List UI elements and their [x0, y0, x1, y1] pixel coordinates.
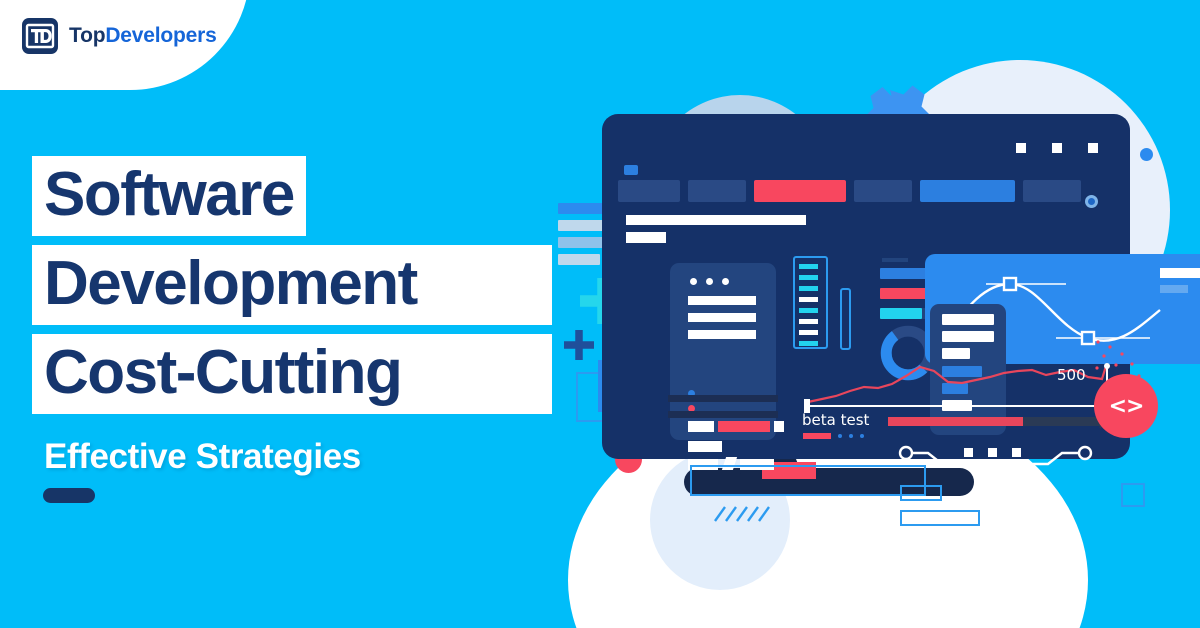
brand-name: TopDevelopers	[69, 24, 217, 48]
app-badge-icon	[624, 165, 638, 175]
plus-icon	[564, 330, 594, 360]
decor-dots	[882, 258, 908, 262]
nav-item[interactable]	[854, 180, 912, 202]
decor-outline-bar	[690, 465, 926, 496]
scroll-track[interactable]	[840, 288, 851, 350]
card-line	[688, 330, 756, 339]
brand-name-part2: Developers	[105, 24, 216, 47]
page-subtitle: Effective Strategies	[44, 437, 361, 477]
accent-rule	[43, 488, 95, 503]
nav-item[interactable]	[688, 180, 746, 202]
chart-value-label: 500	[1057, 366, 1086, 384]
progress-fill	[888, 417, 1023, 426]
list-item[interactable]	[799, 297, 818, 302]
card-dot	[722, 278, 729, 285]
panel-label	[1160, 268, 1200, 278]
nav-item[interactable]	[1023, 180, 1081, 202]
window-dot[interactable]	[1016, 143, 1026, 153]
decor-square-outline	[1121, 483, 1145, 507]
card-progress	[718, 421, 770, 432]
window-dot[interactable]	[1052, 143, 1062, 153]
illustration: 500 beta test	[540, 0, 1200, 628]
card-dot	[706, 278, 713, 285]
nav-item[interactable]	[618, 180, 680, 202]
panel-sublabel	[1160, 285, 1188, 293]
page-title: Software Development Cost-Cutting	[32, 156, 552, 414]
status-indicator	[1085, 195, 1098, 208]
beta-underline	[803, 433, 831, 439]
card-line	[774, 421, 784, 432]
list-item[interactable]	[799, 308, 818, 313]
topdevelopers-monogram-icon	[22, 18, 58, 54]
brand-logo[interactable]: TopDevelopers	[22, 18, 217, 54]
list-item[interactable]	[799, 264, 818, 269]
card-divider	[668, 411, 778, 418]
list-item[interactable]	[799, 286, 818, 291]
card-dot	[690, 278, 697, 285]
headline-line-1: Software	[32, 156, 306, 236]
decor-outline-bar	[900, 485, 942, 501]
list-item[interactable]	[799, 330, 818, 335]
card-line	[688, 441, 722, 452]
card-divider	[668, 395, 778, 402]
circuit-path-icon	[898, 440, 1093, 466]
content-line	[626, 232, 666, 243]
list-panel	[793, 256, 828, 349]
card-line	[688, 313, 756, 322]
chart-axis	[806, 405, 1112, 407]
nav-item[interactable]	[920, 180, 1015, 202]
card-line	[688, 421, 714, 432]
progress-fill	[880, 308, 922, 319]
nav-item-active[interactable]	[754, 180, 846, 202]
content-line	[626, 215, 806, 225]
decor-bar	[1068, 238, 1110, 244]
decor-dot	[1140, 148, 1153, 161]
card-line	[688, 296, 756, 305]
list-item[interactable]	[799, 319, 818, 324]
headline-line-2: Development	[32, 245, 552, 325]
brand-name-part1: Top	[69, 24, 105, 47]
decor-dots	[838, 434, 864, 438]
beta-test-label: beta test	[802, 411, 869, 429]
card-line	[942, 314, 994, 325]
list-item[interactable]	[799, 341, 818, 346]
window-dot[interactable]	[1088, 143, 1098, 153]
list-item[interactable]	[799, 275, 818, 280]
decor-outline-bar	[900, 510, 980, 526]
code-brackets-icon[interactable]: <>	[1094, 374, 1158, 438]
headline-line-3: Cost-Cutting	[32, 334, 552, 414]
hatch-icon	[713, 505, 773, 523]
poster-canvas: 500 beta test	[0, 0, 1200, 628]
decor-bar	[558, 254, 600, 265]
card-line	[942, 331, 994, 342]
